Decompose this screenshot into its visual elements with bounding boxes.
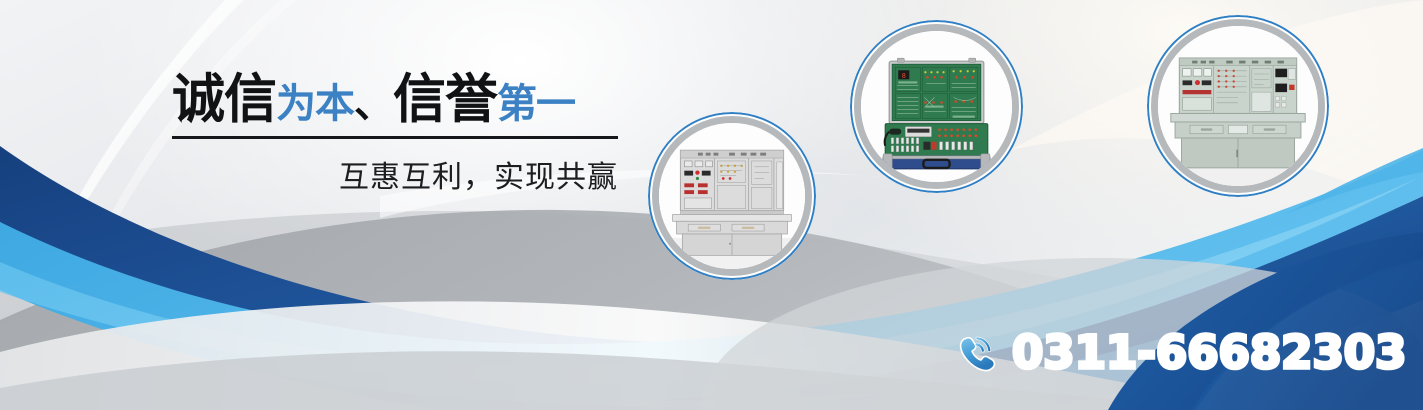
product-photo-workbench — [659, 123, 805, 269]
headline-part-1: 诚信 — [172, 69, 276, 130]
product-photo-trainer-case: 8 — [861, 31, 1012, 182]
product-photo-test-bench — [1158, 26, 1318, 186]
headline: 诚信为本、信誉第一 — [172, 72, 632, 127]
product-circle-2[interactable]: 8 — [850, 20, 1023, 193]
headline-part-4: 第一 — [497, 81, 575, 127]
headline-part-3: 信誉 — [393, 69, 497, 130]
product-circle-1[interactable] — [648, 112, 816, 280]
slogan-block: 诚信为本、信誉第一 互惠互利，实现共赢 — [172, 72, 632, 196]
phone-number[interactable]: 0311-66682303 — [1012, 326, 1406, 379]
headline-divider — [172, 136, 618, 139]
promo-banner: 8 — [0, 0, 1423, 410]
svg-text:8: 8 — [902, 71, 906, 80]
subtitle: 互惠互利，实现共赢 — [172, 152, 618, 196]
headline-part-2: 为本 — [276, 81, 354, 127]
product-circle-3[interactable] — [1147, 15, 1329, 197]
headline-punctuation: 、 — [354, 81, 393, 127]
phone-call-icon — [955, 330, 1001, 376]
contact-phone-block[interactable]: 0311-66682303 0311-66682303 — [955, 326, 1406, 379]
